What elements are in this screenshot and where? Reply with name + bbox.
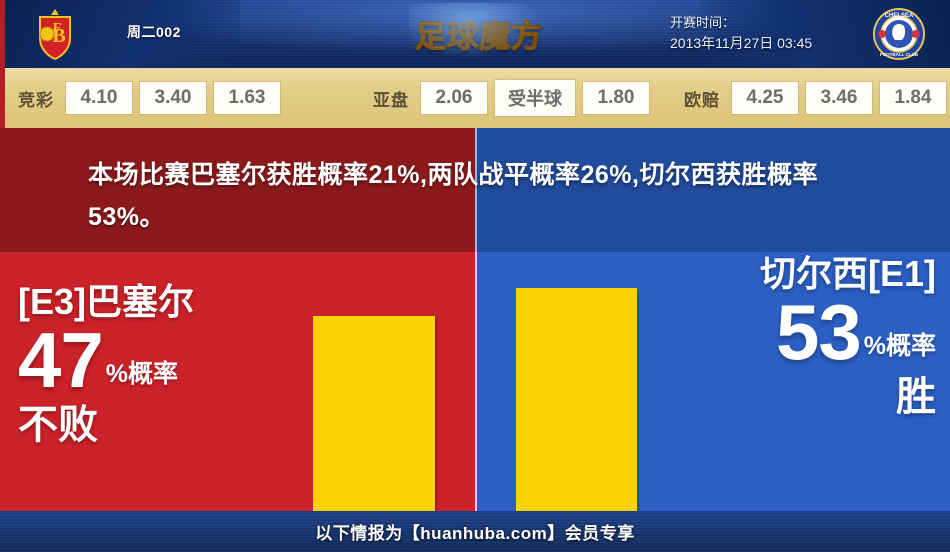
probability-chart: [E3]巴塞尔 47 %概率 不败 切尔西[E1] 53 %概率 胜: [0, 252, 950, 511]
match-preview-screen: B F 周二002 足球魔方 开赛时间： 2013年11月27日 03:45 C…: [0, 0, 950, 552]
odds-cell[interactable]: 3.46: [806, 82, 872, 114]
home-percent-unit: %概率: [103, 362, 178, 396]
odds-red-edge: [0, 68, 5, 128]
away-team-block: 切尔西[E1] 53 %概率 胜: [760, 252, 936, 420]
home-verdict: 不败: [18, 402, 194, 448]
away-verdict: 胜: [760, 374, 936, 420]
brand-logo: 足球魔方: [409, 9, 549, 57]
kickoff-time: 2013年11月27日 03:45: [670, 33, 812, 54]
footer-notice: 以下情报为【huanhuba.com】会员专享: [315, 519, 634, 544]
chelsea-crest-icon: CHELSEA FOOTBALL CLUB: [870, 6, 928, 62]
svg-text:FOOTBALL CLUB: FOOTBALL CLUB: [880, 52, 919, 57]
odds-cell[interactable]: 1.80: [583, 82, 649, 114]
home-team-block: [E3]巴塞尔 47 %概率 不败: [18, 280, 194, 448]
main-divider: [475, 252, 477, 511]
odds-cell[interactable]: 4.25: [732, 82, 798, 114]
header-bar: B F 周二002 足球魔方 开赛时间： 2013年11月27日 03:45 C…: [0, 0, 950, 68]
home-probability-bar: [313, 316, 435, 511]
home-percent-value: 47: [18, 324, 103, 396]
summary-banner: 本场比赛巴塞尔获胜概率21%,两队战平概率26%,切尔西获胜概率53%。: [0, 128, 950, 252]
odds-cell[interactable]: 1.63: [214, 82, 280, 114]
away-percent-value: 53: [776, 296, 861, 368]
odds-group-label: 欧赔: [684, 86, 720, 111]
odds-group-jingcai: 竞彩 4.10 3.40 1.63: [18, 82, 280, 114]
odds-group-yapan: 亚盘 2.06 受半球 1.80: [373, 80, 649, 116]
odds-bar: 竞彩 4.10 3.40 1.63 亚盘 2.06 受半球 1.80 欧赔 4.…: [0, 68, 950, 128]
odds-cell-handicap[interactable]: 受半球: [495, 80, 575, 116]
odds-group-label: 竞彩: [18, 86, 54, 111]
header-red-edge: [0, 0, 5, 68]
match-number: 周二002: [127, 22, 181, 42]
odds-cell[interactable]: 2.06: [421, 82, 487, 114]
probability-summary-text: 本场比赛巴塞尔获胜概率21%,两队战平概率26%,切尔西获胜概率53%。: [88, 154, 878, 238]
footer-bar: 以下情报为【huanhuba.com】会员专享: [0, 511, 950, 552]
away-probability-bar: [516, 288, 637, 511]
odds-cell[interactable]: 3.40: [140, 82, 206, 114]
brand-logo-text: 足球魔方: [415, 11, 543, 56]
home-percent-row: 47 %概率: [18, 324, 194, 396]
svg-text:CHELSEA: CHELSEA: [885, 13, 914, 19]
odds-group-label: 亚盘: [373, 86, 409, 111]
svg-text:F: F: [53, 21, 62, 36]
kickoff-label: 开赛时间：: [670, 12, 812, 33]
odds-group-oupei: 欧赔 4.25 3.46 1.84: [684, 82, 946, 114]
basel-crest-icon: B F: [26, 6, 84, 62]
away-percent-unit: %概率: [861, 334, 936, 368]
away-percent-row: 53 %概率: [760, 296, 936, 368]
kickoff-block: 开赛时间： 2013年11月27日 03:45: [670, 12, 812, 54]
odds-cell[interactable]: 1.84: [880, 82, 946, 114]
odds-cell[interactable]: 4.10: [66, 82, 132, 114]
